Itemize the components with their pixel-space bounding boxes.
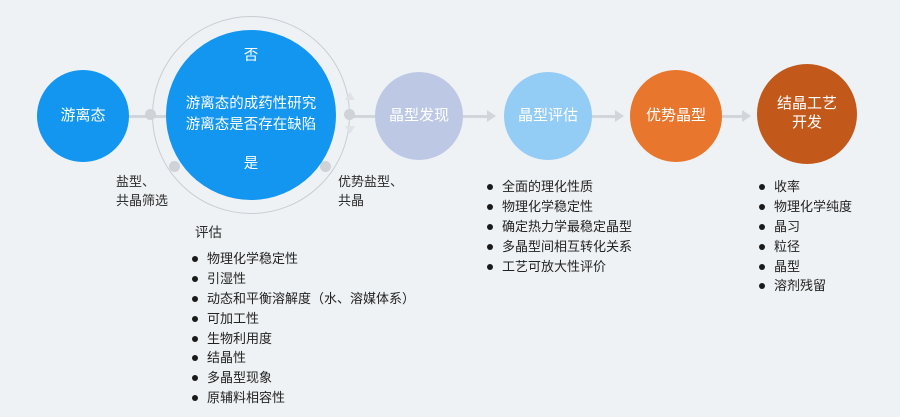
chevron-up-icon	[345, 92, 355, 100]
flowchart-canvas: 游离态 游离态的成药性研究 游离态是否存在缺陷 否 是 晶型发现 晶型评估 优势…	[0, 0, 900, 417]
list-item: 引湿性	[192, 269, 415, 289]
list-item: 工艺可放大性评价	[487, 257, 632, 277]
section-title-evaluation: 评估	[195, 221, 222, 241]
list-item: 可加工性	[192, 309, 415, 329]
node-dominant-form-label: 优势晶型	[646, 107, 706, 126]
list-crystal-evaluation-items: 全面的理化性质 物理化学稳定性 确定热力学最稳定晶型 多晶型间相互转化关系 工艺…	[487, 177, 632, 276]
list-item: 全面的理化性质	[487, 177, 632, 197]
list-item: 动态和平衡溶解度（水、溶媒体系）	[192, 289, 415, 309]
chevron-down-icon	[345, 126, 355, 134]
decision-branch-no-label: 否	[231, 44, 271, 65]
decision-branch-yes-label: 是	[231, 152, 271, 173]
list-item: 多晶型现象	[192, 368, 415, 388]
list-item: 确定热力学最稳定晶型	[487, 217, 632, 237]
node-crystal-evaluation-label: 晶型评估	[518, 107, 578, 126]
list-item: 收率	[759, 177, 852, 197]
list-item: 物理化学稳定性	[487, 197, 632, 217]
edge-label-dominant-salt: 优势盐型、 共晶	[338, 173, 403, 211]
arrow-head-icon	[742, 110, 751, 122]
ring-connection-dot-right	[344, 109, 355, 120]
list-item: 晶型	[759, 257, 852, 277]
node-dominant-form[interactable]: 优势晶型	[630, 70, 722, 162]
ring-connection-dot-bottom-left	[169, 161, 180, 172]
list-item: 生物利用度	[192, 329, 415, 349]
node-crystal-evaluation[interactable]: 晶型评估	[504, 72, 592, 160]
list-item: 多晶型间相互转化关系	[487, 237, 632, 257]
list-process-development-items: 收率 物理化学纯度 晶习 粒径 晶型 溶剂残留	[759, 177, 852, 296]
edge-label-salt-screening: 盐型、 共晶筛选	[116, 173, 168, 211]
list-item: 物理化学纯度	[759, 197, 852, 217]
list-item: 结晶性	[192, 348, 415, 368]
list-item: 粒径	[759, 237, 852, 257]
arrow-head-icon	[487, 110, 496, 122]
node-crystal-discovery[interactable]: 晶型发现	[375, 72, 463, 160]
list-item: 溶剂残留	[759, 276, 852, 296]
node-decision-label: 游离态的成药性研究 游离态是否存在缺陷	[186, 94, 317, 136]
node-process-development-label: 结晶工艺 开发	[777, 95, 837, 133]
ring-connection-dot-bottom-right	[320, 161, 331, 172]
node-free-form-label: 游离态	[60, 107, 105, 126]
ring-connection-dot-left	[145, 109, 156, 120]
list-item: 物理化学稳定性	[192, 249, 415, 269]
arrow-head-icon	[615, 110, 624, 122]
list-item: 晶习	[759, 217, 852, 237]
list-item: 原辅料相容性	[192, 388, 415, 408]
node-process-development[interactable]: 结晶工艺 开发	[757, 64, 857, 164]
list-evaluation-items: 物理化学稳定性 引湿性 动态和平衡溶解度（水、溶媒体系） 可加工性 生物利用度 …	[192, 249, 415, 408]
node-crystal-discovery-label: 晶型发现	[389, 107, 449, 126]
node-free-form[interactable]: 游离态	[37, 70, 129, 162]
